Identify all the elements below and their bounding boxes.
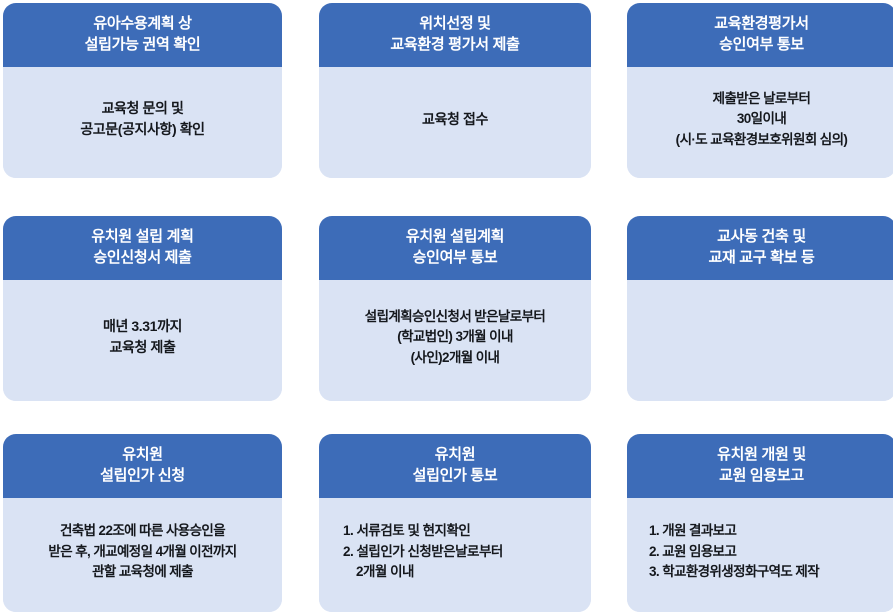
step-8-body-line-1: 1. 서류검토 및 현지확인 — [343, 521, 470, 542]
step-6-header-line-1: 교사동 건축 및 — [717, 226, 806, 247]
step-1-header: 유아수용계획 상 설립가능 권역 확인 — [3, 3, 282, 67]
step-8-body-line-3: 2개월 이내 — [343, 562, 414, 583]
step-7-body-line-3: 관할 교육청에 제출 — [92, 562, 193, 583]
step-3-body-line-1: 제출받은 날로부터 — [713, 89, 811, 110]
step-1-body-line-2: 공고문(공지사항) 확인 — [80, 119, 204, 140]
process-step-card-5: 유치원 설립계획 승인여부 통보 설립계획승인신청서 받은날로부터 (학교법인)… — [319, 216, 591, 401]
step-7-header: 유치원 설립인가 신청 — [3, 434, 282, 498]
step-2-body-line-1: 교육청 접수 — [422, 109, 488, 130]
step-9-header-line-1: 유치원 개원 및 — [717, 444, 806, 465]
step-2-header-line-2: 교육환경 평가서 제출 — [390, 34, 519, 55]
step-3-body-line-2: 30일이내 — [737, 109, 786, 130]
step-6-header: 교사동 건축 및 교재 교구 확보 등 — [627, 216, 893, 280]
step-2-body: 교육청 접수 — [319, 67, 591, 178]
step-4-body: 매년 3.31까지 교육청 제출 — [3, 280, 282, 401]
step-2-header-line-1: 위치선정 및 — [419, 13, 490, 34]
step-1-header-line-1: 유아수용계획 상 — [93, 13, 191, 34]
step-5-body-line-2: (학교법인) 3개월 이내 — [397, 327, 513, 348]
step-9-header-line-2: 교원 임용보고 — [719, 465, 804, 486]
step-8-header: 유치원 설립인가 통보 — [319, 434, 591, 498]
step-2-header: 위치선정 및 교육환경 평가서 제출 — [319, 3, 591, 67]
step-6-body — [627, 280, 893, 401]
process-step-card-2: 위치선정 및 교육환경 평가서 제출 교육청 접수 — [319, 3, 591, 178]
step-4-header: 유치원 설립 계획 승인신청서 제출 — [3, 216, 282, 280]
step-8-header-line-2: 설립인가 통보 — [413, 465, 498, 486]
step-6-header-line-2: 교재 교구 확보 등 — [708, 247, 814, 268]
process-step-card-9: 유치원 개원 및 교원 임용보고 1. 개원 결과보고 2. 교원 임용보고 3… — [627, 434, 893, 612]
step-5-header-line-2: 승인여부 통보 — [413, 247, 498, 268]
step-3-body-line-3: (시·도 교육환경보호위원회 심의) — [676, 130, 848, 151]
step-5-body-line-3: (사인)2개월 이내 — [411, 348, 500, 369]
step-7-header-line-2: 설립인가 신청 — [100, 465, 185, 486]
step-1-body-line-1: 교육청 문의 및 — [102, 98, 184, 119]
step-3-header-line-1: 교육환경평가서 — [714, 13, 809, 34]
step-9-body-line-2: 2. 교원 임용보고 — [649, 542, 736, 563]
step-7-header-line-1: 유치원 — [122, 444, 163, 465]
step-3-header: 교육환경평가서 승인여부 통보 — [627, 3, 893, 67]
process-step-card-6: 교사동 건축 및 교재 교구 확보 등 — [627, 216, 893, 401]
step-7-body: 건축법 22조에 따른 사용승인을 받은 후, 개교예정일 4개월 이전까지 관… — [3, 498, 282, 612]
step-4-header-line-2: 승인신청서 제출 — [93, 247, 191, 268]
process-step-card-1: 유아수용계획 상 설립가능 권역 확인 교육청 문의 및 공고문(공지사항) 확… — [3, 3, 282, 178]
step-9-body-line-1: 1. 개원 결과보고 — [649, 521, 736, 542]
step-8-header-line-1: 유치원 — [435, 444, 476, 465]
step-9-header: 유치원 개원 및 교원 임용보고 — [627, 434, 893, 498]
step-1-body: 교육청 문의 및 공고문(공지사항) 확인 — [3, 67, 282, 178]
step-4-body-line-2: 교육청 제출 — [110, 337, 176, 358]
step-3-header-line-2: 승인여부 통보 — [719, 34, 804, 55]
step-7-body-line-2: 받은 후, 개교예정일 4개월 이전까지 — [48, 542, 236, 563]
step-1-header-line-2: 설립가능 권역 확인 — [85, 34, 201, 55]
process-flow-diagram: 유아수용계획 상 설립가능 권역 확인 교육청 문의 및 공고문(공지사항) 확… — [0, 0, 893, 611]
step-4-header-line-1: 유치원 설립 계획 — [91, 226, 193, 247]
step-5-header-line-1: 유치원 설립계획 — [406, 226, 504, 247]
step-3-body: 제출받은 날로부터 30일이내 (시·도 교육환경보호위원회 심의) — [627, 67, 893, 178]
step-5-header: 유치원 설립계획 승인여부 통보 — [319, 216, 591, 280]
step-5-body-line-1: 설립계획승인신청서 받은날로부터 — [365, 307, 545, 328]
step-4-body-line-1: 매년 3.31까지 — [103, 316, 182, 337]
process-step-card-8: 유치원 설립인가 통보 1. 서류검토 및 현지확인 2. 설립인가 신청받은날… — [319, 434, 591, 612]
process-step-card-3: 교육환경평가서 승인여부 통보 제출받은 날로부터 30일이내 (시·도 교육환… — [627, 3, 893, 178]
step-7-body-line-1: 건축법 22조에 따른 사용승인을 — [60, 521, 225, 542]
step-5-body: 설립계획승인신청서 받은날로부터 (학교법인) 3개월 이내 (사인)2개월 이… — [319, 280, 591, 401]
step-9-body-line-3: 3. 학교환경위생정화구역도 제작 — [649, 562, 819, 583]
step-8-body: 1. 서류검토 및 현지확인 2. 설립인가 신청받은날로부터 2개월 이내 — [319, 498, 591, 612]
step-9-body: 1. 개원 결과보고 2. 교원 임용보고 3. 학교환경위생정화구역도 제작 — [627, 498, 893, 612]
step-8-body-line-2: 2. 설립인가 신청받은날로부터 — [343, 542, 503, 563]
process-step-card-7: 유치원 설립인가 신청 건축법 22조에 따른 사용승인을 받은 후, 개교예정… — [3, 434, 282, 612]
process-step-card-4: 유치원 설립 계획 승인신청서 제출 매년 3.31까지 교육청 제출 — [3, 216, 282, 401]
